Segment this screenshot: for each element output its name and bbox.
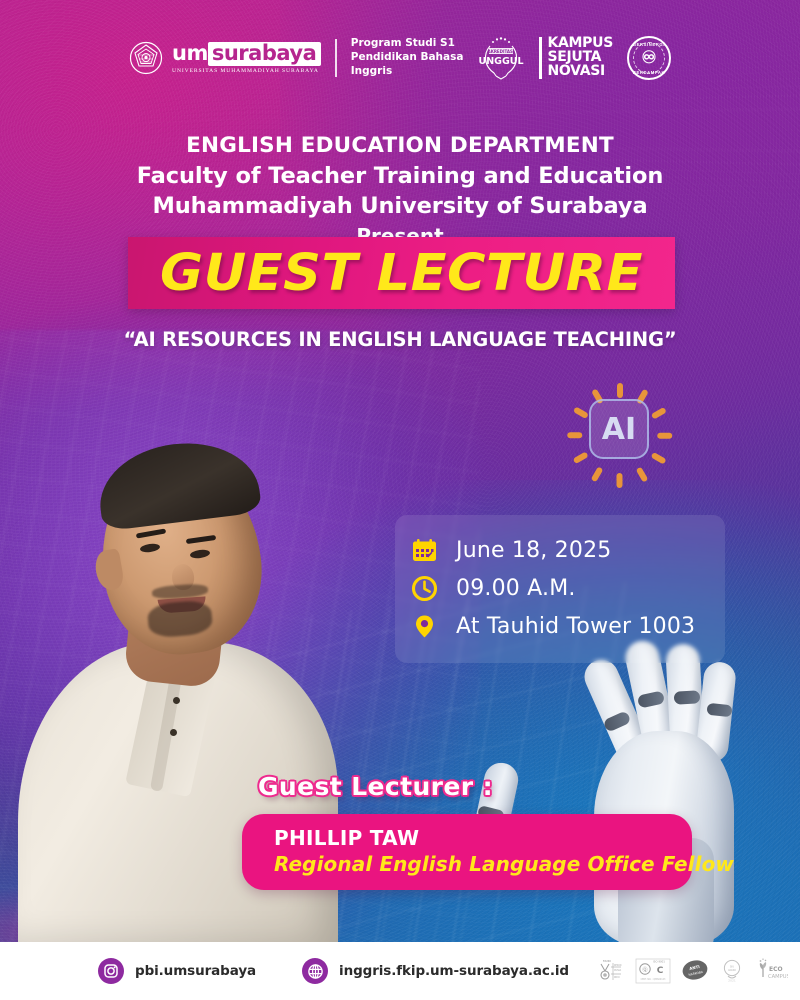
impact-seal-top-text: BERSINERGI xyxy=(629,42,669,47)
robot-knuckle xyxy=(706,703,732,718)
headline-line-1: ENGLISH EDUCATION DEPARTMENT xyxy=(0,132,800,161)
svg-text:AWARD: AWARD xyxy=(728,969,736,972)
instagram-handle: pbi.umsurabaya xyxy=(135,963,256,979)
event-subtitle: “AI RESOURCES IN ENGLISH LANGUAGE TEACHI… xyxy=(0,328,800,351)
svg-text:INDO: INDO xyxy=(614,976,620,979)
svg-text:CAMPUS: CAMPUS xyxy=(768,974,788,980)
headline-block: ENGLISH EDUCATION DEPARTMENT Faculty of … xyxy=(0,132,800,251)
guest-lecturer-label: Guest Lecturer : xyxy=(258,772,493,801)
program-study-text: Program Studi S1 Pendidikan Bahasa Inggr… xyxy=(351,37,464,79)
svg-text:AKREDITASI: AKREDITASI xyxy=(488,49,515,54)
svg-text:2021: 2021 xyxy=(728,979,736,983)
poster-canvas: um surabaya UNIVERSITAS MUHAMMADIYAH SUR… xyxy=(0,0,800,1000)
svg-text:ECO: ECO xyxy=(769,966,783,973)
accreditation-seal-icon: AKREDITASI UNGGUL xyxy=(477,34,525,82)
svg-text:SIU: SIU xyxy=(730,965,734,969)
headline-line-2: Faculty of Teacher Training and Educatio… xyxy=(0,161,800,191)
svg-text:Ⓠ: Ⓠ xyxy=(642,966,648,974)
ai-ray xyxy=(591,467,603,483)
shirt-button xyxy=(170,729,177,736)
program-line-1: Program Studi S1 xyxy=(351,37,464,51)
footer-certifications: MURI REKOR DUNIA INDO Ⓠ ISO 9001 C xyxy=(596,956,788,986)
ai-ray xyxy=(567,433,582,439)
svg-text:DUNIA: DUNIA xyxy=(614,969,622,972)
campus-line-3: NOVASI xyxy=(547,65,613,79)
event-location-text: At Tauhid Tower 1003 xyxy=(456,614,695,639)
impact-seal-bottom-text: BERDAMPAK xyxy=(629,70,669,75)
bulb-badge-icon: SIU AWARD 2021 xyxy=(719,957,745,985)
globe-icon xyxy=(302,958,328,984)
program-line-2: Pendidikan Bahasa xyxy=(351,51,464,65)
ai-sparkle-icon: AI xyxy=(563,375,671,481)
ai-ray xyxy=(617,383,623,398)
footer-bar: pbi.umsurabaya inggris.fkip.um-surabaya.… xyxy=(0,942,800,1000)
speaker-role: Regional English Language Office Fellow xyxy=(274,851,692,877)
guest-lecture-title: GUEST LECTURE xyxy=(160,244,643,303)
event-info-row-time: 09.00 A.M. xyxy=(395,569,725,607)
svg-text:C: C xyxy=(657,966,664,976)
ai-ray xyxy=(651,452,667,464)
svg-text:UNGGUL: UNGGUL xyxy=(479,56,524,67)
svg-text:MURI: MURI xyxy=(603,959,611,963)
event-date-text: June 18, 2025 xyxy=(456,538,611,563)
svg-text:ISO 9001: ISO 9001 xyxy=(653,960,665,964)
ai-label: AI xyxy=(602,412,636,447)
university-logo: um surabaya UNIVERSITAS MUHAMMADIYAH SUR… xyxy=(129,41,321,75)
um-crest-icon xyxy=(129,41,163,75)
headline-line-3: Muhammadiyah University of Surabaya xyxy=(0,191,800,221)
clock-icon xyxy=(411,575,438,602)
svg-text:REKOR: REKOR xyxy=(614,964,622,967)
campus-badge-bar xyxy=(539,37,542,78)
campus-badge: KAMPUS SEJUTA NOVASI xyxy=(539,37,613,78)
eco-campus-icon: ECO CAMPUS xyxy=(754,957,788,985)
guest-lecture-banner: GUEST LECTURE xyxy=(128,237,675,309)
ai-ray xyxy=(657,433,672,439)
shirt-button xyxy=(173,697,180,704)
um-wordmark: um surabaya UNIVERSITAS MUHAMMADIYAH SUR… xyxy=(172,42,321,74)
svg-text:CERT. NO. : QMS00123: CERT. NO. : QMS00123 xyxy=(641,978,666,981)
event-info-row-location: At Tauhid Tower 1003 xyxy=(395,607,725,645)
ai-square-frame: AI xyxy=(589,399,649,459)
footer-instagram[interactable]: pbi.umsurabaya xyxy=(98,958,256,984)
iso-cert-icon: Ⓠ ISO 9001 C CERT. NO. : QMS00123 xyxy=(635,957,671,985)
location-pin-icon xyxy=(411,613,438,640)
impact-seal-icon: BERSINERGI ♾ BERDAMPAK xyxy=(627,36,671,80)
ai-ray xyxy=(636,467,648,483)
footer-website[interactable]: inggris.fkip.um-surabaya.ac.id xyxy=(302,958,569,984)
ai-ray xyxy=(573,407,589,419)
event-info-row-date: June 18, 2025 xyxy=(395,531,725,569)
header-divider xyxy=(335,39,337,77)
logo-surabaya-text: surabaya xyxy=(208,42,321,66)
robot-knuckle xyxy=(674,690,701,704)
event-info-panel: June 18, 2025 09.00 A.M. At Tauhid Tower… xyxy=(395,515,725,663)
calendar-icon xyxy=(411,537,438,564)
ai-ray xyxy=(573,452,589,464)
logo-tagline: UNIVERSITAS MUHAMMADIYAH SURABAYA xyxy=(172,68,321,74)
mur-award-icon: MURI REKOR DUNIA INDO xyxy=(596,956,626,986)
instagram-icon xyxy=(98,958,124,984)
ai-ray xyxy=(617,473,623,488)
header-logo-bar: um surabaya UNIVERSITAS MUHAMMADIYAH SUR… xyxy=(0,34,800,82)
anti-badge-icon: ANTI NARKOBA xyxy=(680,957,710,985)
program-line-3: Inggris xyxy=(351,65,464,79)
logo-um-text: um xyxy=(172,43,208,64)
speaker-name-banner: PHILLIP TAW Regional English Language Of… xyxy=(242,814,692,890)
event-time-text: 09.00 A.M. xyxy=(456,576,576,601)
campus-badge-text: KAMPUS SEJUTA NOVASI xyxy=(547,37,613,78)
website-url: inggris.fkip.um-surabaya.ac.id xyxy=(339,963,569,979)
speaker-name: PHILLIP TAW xyxy=(274,826,692,851)
ai-ray xyxy=(651,407,667,419)
